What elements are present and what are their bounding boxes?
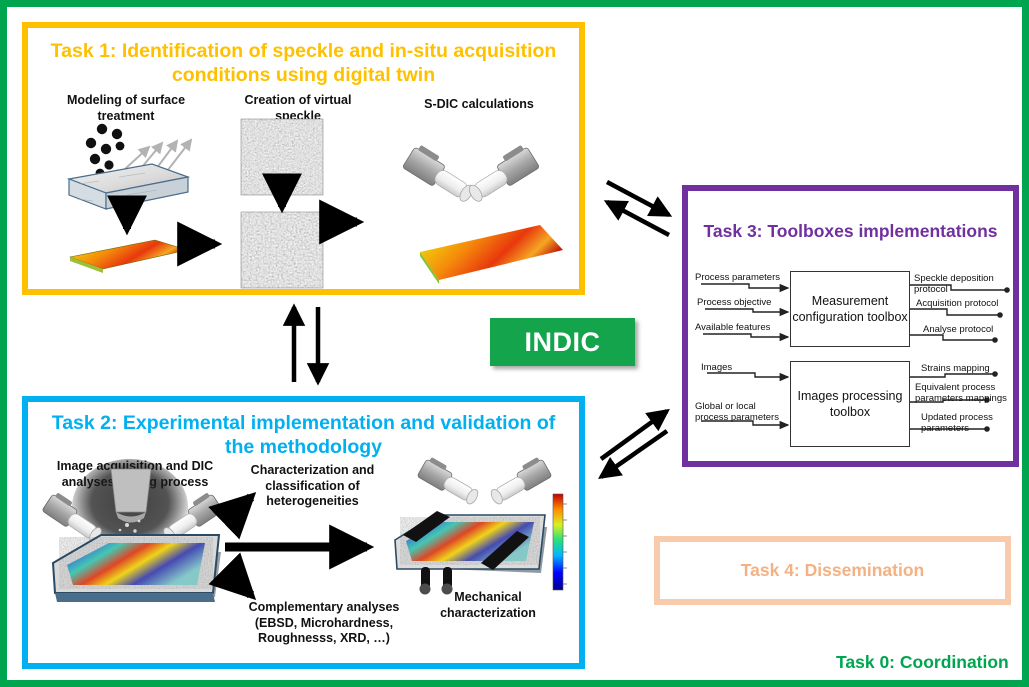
task3-title: Task 3: Toolboxes implementations: [688, 221, 1013, 242]
label-process-objective: Process objective: [697, 297, 787, 308]
label-analyse-protocol: Analyse protocol: [923, 324, 1013, 335]
label-images: Images: [701, 362, 781, 373]
caption-complementary-analyses: Complementary analyses (EBSD, Microhardn…: [229, 600, 419, 647]
label-updated-process-parameters: Updated process parameters: [921, 412, 1013, 435]
images-toolbox-label: Images processing toolbox: [791, 388, 909, 420]
measurement-toolbox-label: Measurement configuration toolbox: [791, 293, 909, 325]
label-acquisition-protocol: Acquisition protocol: [916, 298, 1012, 309]
task2-title: Task 2: Experimental implementation and …: [44, 412, 563, 460]
label-speckle-deposition-protocol: Speckle deposition protocol: [914, 273, 1014, 296]
task0-label: Task 0: Coordination: [836, 652, 1009, 673]
indic-badge-label: INDIC: [490, 318, 635, 366]
task4-box: Task 4: Dissemination: [654, 536, 1011, 605]
label-global-or-local-process-parameters: Global or local process parameters: [695, 401, 789, 424]
indic-project-diagram: Task 1: Identification of speckle and in…: [0, 0, 1029, 687]
label-available-features: Available features: [695, 322, 787, 333]
virtual-speckle-image-bottom: [241, 212, 323, 288]
caption-s-dic-calculations: S-DIC calculations: [404, 97, 554, 113]
task4-title: Task 4: Dissemination: [660, 542, 1005, 599]
label-equivalent-process-parameters-mappings: Equivalent process parameters mappings: [915, 382, 1013, 405]
task3-block-diagram: Measurement configuration toolbox Images…: [695, 269, 1013, 459]
task2-task3-double-arrow: [601, 411, 667, 477]
label-process-parameters: Process parameters: [695, 272, 787, 283]
task1-task3-double-arrow: [607, 182, 669, 235]
caption-mechanical-characterization: Mechanical characterization: [418, 590, 558, 621]
caption-characterization-heterogeneities: Characterization and classification of h…: [240, 463, 385, 510]
measurement-configuration-toolbox: Measurement configuration toolbox: [790, 271, 910, 347]
label-strains-mapping: Strains mapping: [921, 363, 1013, 374]
virtual-speckle-image-top: [241, 119, 323, 195]
caption-image-acquisition-dic: Image acquisition and DIC analyses durin…: [40, 459, 230, 490]
images-processing-toolbox: Images processing toolbox: [790, 361, 910, 447]
task1-task2-double-arrow: [294, 307, 318, 382]
indic-badge: INDIC: [490, 318, 635, 366]
caption-modeling-of-surface-treatment: Modeling of surface treatment: [51, 93, 201, 124]
task1-title: Task 1: Identification of speckle and in…: [46, 40, 561, 88]
